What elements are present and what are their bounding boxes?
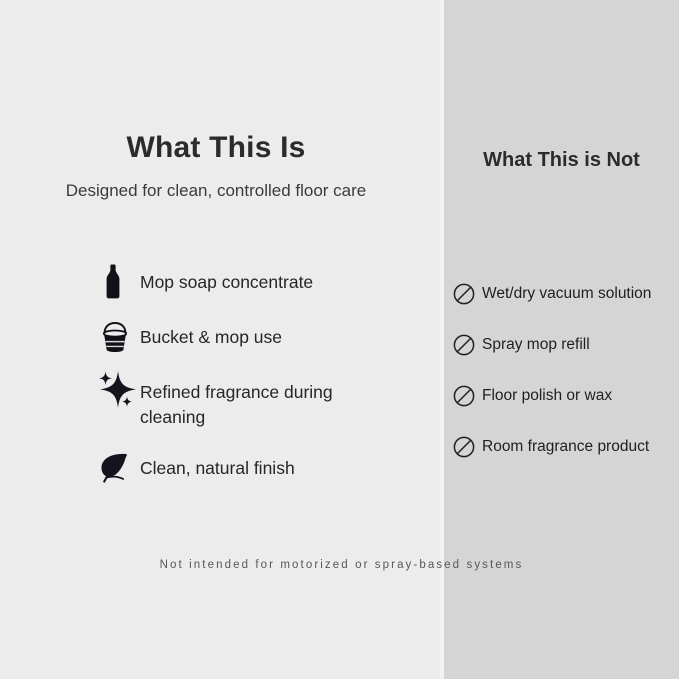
prohibition-icon (452, 333, 482, 357)
left-benefits-list: Mop soap concentrate Bucket & mop use (96, 262, 426, 503)
list-item-label: Floor polish or wax (482, 386, 612, 405)
prohibition-icon (452, 435, 482, 459)
left-panel-subtitle: Designed for clean, controlled floor car… (0, 180, 432, 202)
comparison-infographic: What This Is Designed for clean, control… (0, 0, 679, 679)
list-item: Spray mop refill (452, 329, 679, 360)
footer-note-text: Not intended for motorized or spray-base… (156, 559, 524, 571)
sparkles-icon (96, 372, 140, 412)
right-panel-header: What This is Not (444, 148, 679, 172)
list-item: Room fragrance product (452, 431, 679, 462)
list-item: Clean, natural finish (96, 448, 426, 492)
left-panel-header: What This Is Designed for clean, control… (0, 130, 432, 202)
list-item: Wet/dry vacuum solution (452, 278, 679, 309)
list-item: Refined fragrance during cleaning (96, 372, 426, 430)
list-item-label: Clean, natural finish (140, 448, 295, 481)
list-item-label: Room fragrance product (482, 437, 649, 456)
bottle-icon (96, 262, 140, 302)
right-panel-title: What This is Not (444, 148, 679, 172)
right-exclusions-list: Wet/dry vacuum solution Spray mop refill… (452, 278, 679, 482)
left-panel-title: What This Is (0, 130, 432, 166)
bucket-icon (96, 317, 140, 357)
list-item: Mop soap concentrate (96, 262, 426, 306)
list-item-label: Spray mop refill (482, 335, 590, 354)
leaf-icon (96, 448, 140, 488)
footer-note: Not intended for motorized or spray-base… (0, 559, 679, 571)
list-item-label: Bucket & mop use (140, 317, 282, 350)
list-item-label: Wet/dry vacuum solution (482, 284, 651, 303)
list-item-label: Mop soap concentrate (140, 262, 313, 295)
list-item: Floor polish or wax (452, 380, 679, 411)
prohibition-icon (452, 384, 482, 408)
prohibition-icon (452, 282, 482, 306)
list-item: Bucket & mop use (96, 317, 426, 361)
list-item-label: Refined fragrance during cleaning (140, 372, 380, 430)
